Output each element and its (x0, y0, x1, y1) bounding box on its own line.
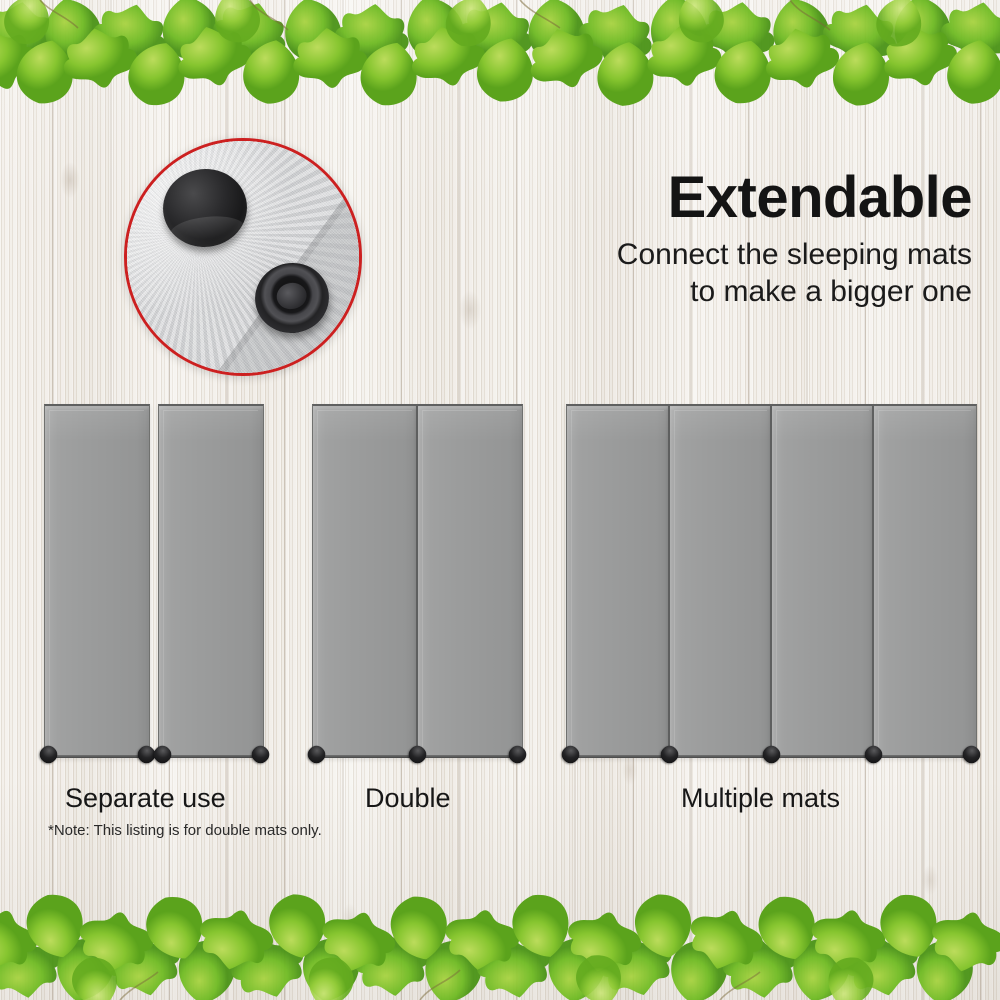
headline-block: Extendable Connect the sleeping mats to … (552, 168, 972, 310)
mat-inner-highlight (317, 410, 412, 753)
mat-bottom-edge (567, 755, 669, 758)
subtitle-line-1: Connect the sleeping mats (617, 238, 972, 271)
listing-note: *Note: This listing is for double mats o… (48, 822, 322, 839)
infographic-canvas: Extendable Connect the sleeping mats to … (0, 0, 1000, 1000)
mat-panel (416, 404, 523, 758)
mat-panel (44, 404, 150, 758)
headline-subtitle: Connect the sleeping mats to make a bigg… (552, 237, 972, 310)
mat-bottom-edge (159, 755, 263, 758)
mat-inner-highlight (163, 410, 258, 753)
mat-panel (668, 404, 772, 758)
mat-group-double (312, 404, 520, 756)
mat-configuration-diagram (0, 404, 1000, 756)
mat-bottom-edge (313, 755, 417, 758)
mat-inner-highlight (878, 410, 971, 753)
mat-inner-highlight (674, 410, 767, 753)
mat-bottom-edge (418, 755, 522, 758)
mat-inner-highlight (776, 410, 869, 753)
mat-inner-highlight (571, 410, 664, 753)
mat-panel (312, 404, 417, 758)
mat-panel (158, 404, 264, 758)
fabric-noise-overlay (127, 141, 359, 373)
caption-separate-use: Separate use (65, 783, 226, 814)
caption-double: Double (365, 783, 451, 814)
mat-group-separate-use (44, 404, 290, 756)
page-title: Extendable (552, 168, 972, 227)
caption-multiple-mats: Multiple mats (681, 783, 840, 814)
mat-bottom-edge (45, 755, 149, 758)
snap-fastener-closeup-inset (124, 138, 362, 376)
mat-panel (566, 404, 669, 758)
mat-group-multiple-mats (566, 404, 974, 756)
subtitle-line-2: to make a bigger one (690, 275, 972, 308)
mat-bottom-edge (874, 755, 976, 758)
mat-panel (872, 404, 977, 758)
mat-bottom-edge (772, 755, 874, 758)
mat-inner-highlight (422, 410, 517, 753)
mat-panel (770, 404, 874, 758)
mat-inner-highlight (49, 410, 144, 753)
mat-bottom-edge (670, 755, 772, 758)
